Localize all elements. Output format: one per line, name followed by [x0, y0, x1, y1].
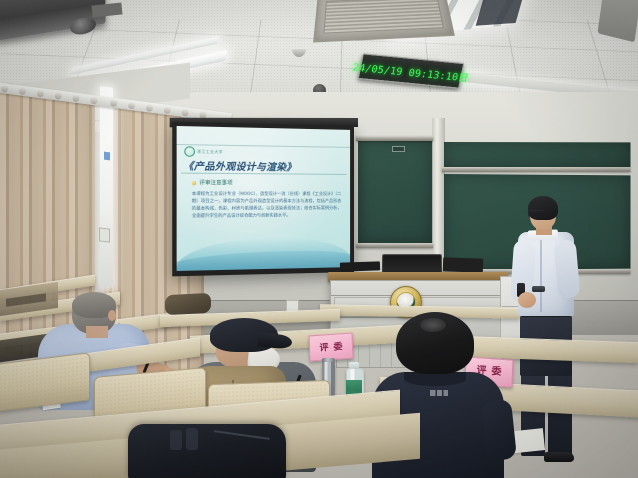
wall-outlet — [99, 227, 110, 242]
blackboard-left — [358, 140, 432, 244]
podium-monitor — [443, 257, 483, 272]
name-card-char: 委 — [333, 342, 342, 352]
ac-grille — [323, 0, 443, 34]
hair-highlight — [420, 318, 446, 332]
presenter-hair — [528, 196, 558, 220]
bullet-dot-icon — [192, 181, 196, 185]
tshirt-brand-logo — [430, 390, 448, 396]
blackboard-upper-right — [444, 142, 631, 168]
slide-title: 《产品外观设计与渲染》 — [183, 158, 344, 174]
judge-left-neck — [86, 326, 108, 338]
chalk-tray — [442, 167, 630, 172]
slide-body-text: 本课程为工业设计专业（MOOC）、造型设计一流（在线）课程《工业设计》（二期）项… — [192, 190, 341, 220]
slide-bullet-heading: 评审注意事项 — [192, 179, 233, 187]
backpack-strap — [186, 428, 198, 450]
name-card-char: 委 — [491, 367, 501, 378]
judge-right-arm — [481, 399, 517, 462]
blackboard-eraser — [392, 146, 405, 152]
presenter-shoe — [544, 452, 574, 462]
backpack — [128, 424, 286, 478]
podium-monitor — [340, 261, 380, 271]
logo-text: 浙江工业大学 — [197, 149, 223, 155]
slide-bullet-heading-text: 评审注意事项 — [199, 179, 232, 186]
bag-on-desk — [165, 293, 211, 315]
eyeglasses — [528, 210, 545, 217]
presenter-hand — [518, 292, 536, 308]
university-logo: 浙江工业大学 — [184, 146, 223, 157]
judge-right-collar — [404, 372, 466, 386]
window-daylight-gap — [100, 86, 113, 288]
ceiling-ac-vent — [313, 0, 455, 43]
chalk-tray — [356, 243, 433, 248]
classroom-presentation-photo: 24/05/19 09:13:10日 浙江工业大学 — [0, 0, 638, 478]
window-sticker — [104, 152, 110, 161]
backpack-strap — [170, 430, 182, 450]
wristwatch — [532, 286, 545, 292]
projection-screen: 浙江工业大学 《产品外观设计与渲染》 评审注意事项 本课程为工业设计专业（MOO… — [172, 122, 354, 277]
presenter-shirt-placket — [540, 236, 542, 312]
judge-left-ear — [108, 310, 116, 321]
presentation-slide: 浙江工业大学 《产品外观设计与渲染》 评审注意事项 本课程为工业设计专业（MOO… — [177, 126, 350, 271]
chalk-tray — [356, 136, 433, 141]
logo-ring-icon — [184, 146, 195, 157]
name-card-char: 评 — [319, 343, 328, 353]
led-clock-display: 24/05/19 09:13:10日 — [352, 58, 470, 84]
